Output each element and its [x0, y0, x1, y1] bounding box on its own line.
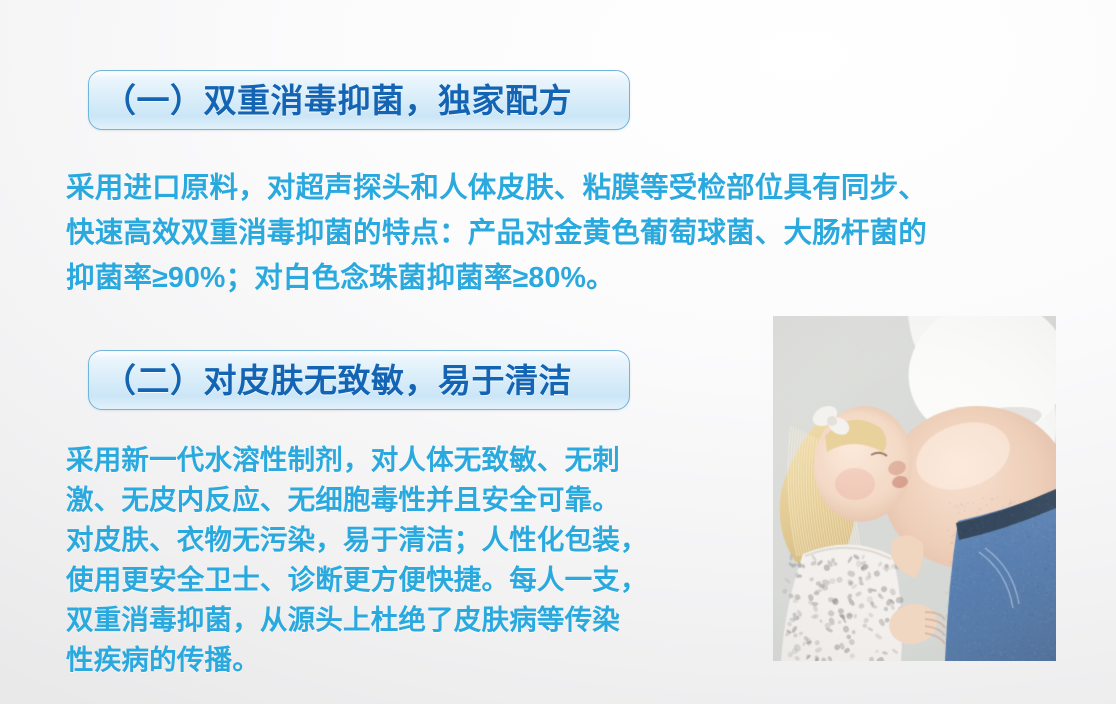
- section-body-text-1: 采用进口原料，对超声探头和人体皮肤、粘膜等受检部位具有同步、 快速高效双重消毒抑…: [66, 166, 1066, 301]
- section-heading-label-1: （一）双重消毒抑菌，独家配方: [89, 84, 572, 117]
- photo-frame: [773, 316, 1056, 661]
- section-body-text-2: 采用新一代水溶性制剂，对人体无致敏、无刺 激、无皮内反应、无细胞毒性并且安全可靠…: [66, 440, 766, 680]
- section-heading-label-2: （二）对皮肤无致敏，易于清洁: [89, 364, 572, 397]
- section-heading-box-2: （二）对皮肤无致敏，易于清洁: [88, 350, 630, 410]
- slide-canvas: （一）双重消毒抑菌，独家配方 采用进口原料，对超声探头和人体皮肤、粘膜等受检部位…: [0, 0, 1116, 704]
- section-heading-box-1: （一）双重消毒抑菌，独家配方: [88, 70, 630, 130]
- toddler-kissing-pregnant-belly-photo: [773, 316, 1056, 661]
